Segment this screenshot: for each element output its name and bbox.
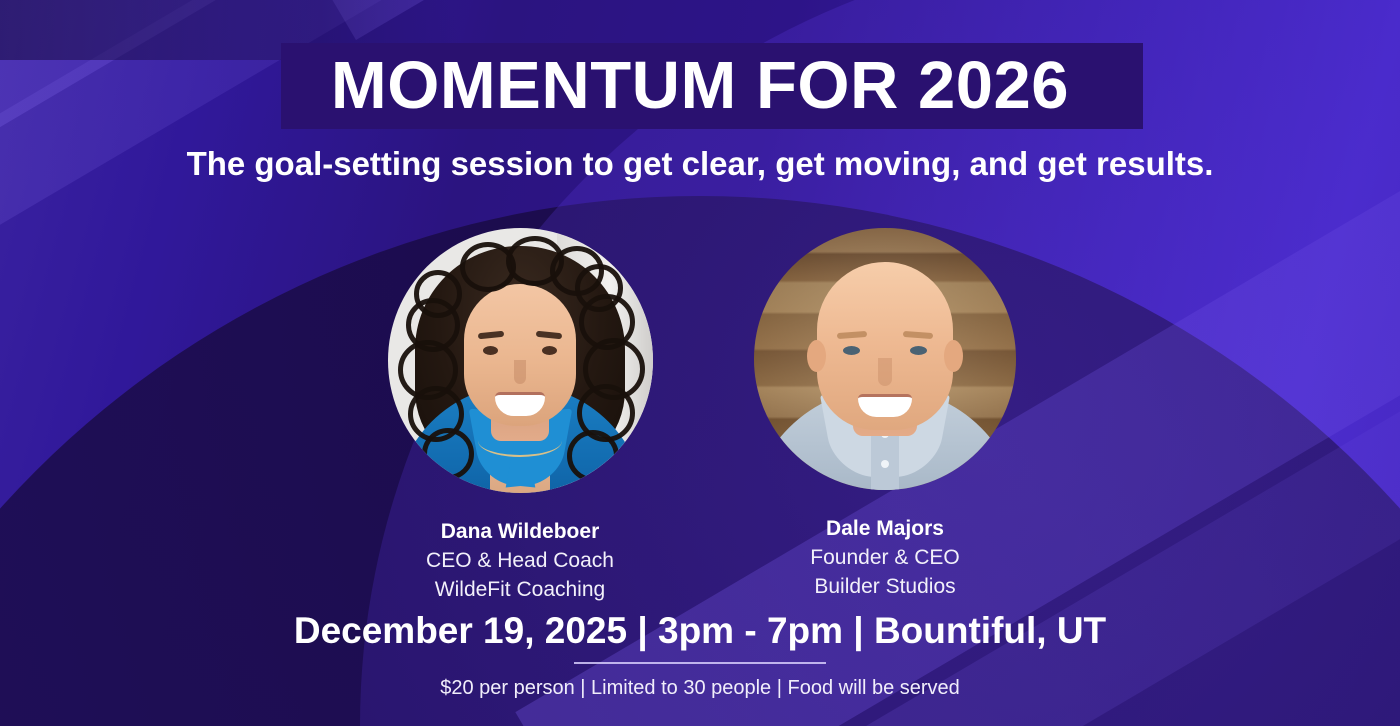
speaker-organization: Builder Studios: [720, 572, 1050, 601]
portrait-nose: [514, 360, 526, 384]
page-title: MOMENTUM FOR 2026: [0, 48, 1400, 124]
event-promo-poster: MOMENTUM FOR 2026 The goal-setting sessi…: [0, 0, 1400, 726]
portrait-eye-left: [843, 346, 860, 355]
speaker-role: Founder & CEO: [720, 543, 1050, 572]
event-details-footer: $20 per person | Limited to 30 people | …: [0, 674, 1400, 702]
speaker-role: CEO & Head Coach: [355, 546, 685, 575]
portrait-curl: [422, 428, 474, 480]
speaker-name: Dale Majors: [720, 514, 1050, 543]
portrait-nose: [878, 358, 892, 386]
avatar-dale-majors: [754, 228, 1016, 490]
speaker-details: Dana Wildeboer CEO & Head Coach WildeFit…: [355, 517, 685, 604]
portrait-smile: [858, 394, 912, 417]
avatar-dana-wildeboer: [388, 228, 653, 493]
portrait-eye-right: [910, 346, 927, 355]
portrait-curl: [567, 430, 619, 482]
portrait-ear-right: [944, 340, 963, 372]
page-subtitle: The goal-setting session to get clear, g…: [0, 143, 1400, 185]
portrait-curl: [550, 246, 604, 296]
footer-divider: [574, 662, 826, 664]
portrait-curl: [414, 270, 462, 318]
portrait-eye-left: [483, 346, 498, 355]
speaker-details: Dale Majors Founder & CEO Builder Studio…: [720, 514, 1050, 601]
speaker-organization: WildeFit Coaching: [355, 575, 685, 604]
speaker-card-dana-wildeboer: Dana Wildeboer CEO & Head Coach WildeFit…: [355, 228, 685, 604]
portrait-shirt-button: [881, 460, 889, 468]
speaker-card-dale-majors: Dale Majors Founder & CEO Builder Studio…: [720, 228, 1050, 601]
portrait-necklace: [478, 425, 562, 457]
speaker-name: Dana Wildeboer: [355, 517, 685, 546]
event-date-time-location: December 19, 2025 | 3pm - 7pm | Bountifu…: [0, 608, 1400, 654]
portrait-ear-left: [807, 340, 826, 372]
portrait-eye-right: [542, 346, 557, 355]
